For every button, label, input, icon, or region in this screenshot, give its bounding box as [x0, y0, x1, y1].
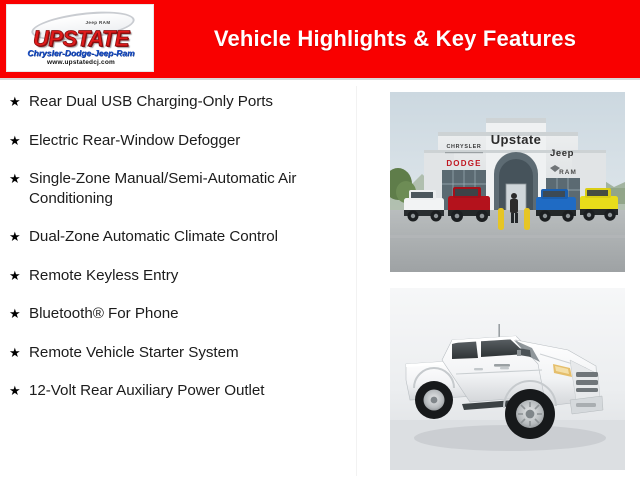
feature-label: Single-Zone Manual/Semi-Automatic Air Co… [29, 169, 352, 208]
dealership-exterior-photo[interactable]: Upstate CHRYSLER DODGE Jeep RAM [390, 92, 625, 272]
svg-text:Upstate: Upstate [491, 132, 541, 147]
list-item: ★ Remote Keyless Entry [6, 266, 352, 286]
svg-text:CHRYSLER: CHRYSLER [446, 144, 481, 150]
list-item: ★ Remote Vehicle Starter System [6, 343, 352, 363]
dealership-photo-artwork: Upstate CHRYSLER DODGE Jeep RAM [390, 92, 625, 272]
header-bar: Jeep RAM UPSTATE Chrysler-Dodge-Jeep-Ram… [0, 0, 640, 78]
star-bullet-icon: ★ [6, 131, 29, 150]
list-item: ★ Rear Dual USB Charging-Only Ports [6, 92, 352, 112]
star-bullet-icon: ★ [6, 92, 29, 111]
feature-label: Rear Dual USB Charging-Only Ports [29, 92, 352, 112]
feature-label: Bluetooth® For Phone [29, 304, 352, 324]
logo-subtitle: Chrysler-Dodge-Jeep-Ram [7, 49, 154, 58]
logo-brand-line: Jeep RAM [63, 20, 133, 25]
dealer-logo[interactable]: Jeep RAM UPSTATE Chrysler-Dodge-Jeep-Ram… [6, 4, 154, 72]
star-bullet-icon: ★ [6, 266, 29, 285]
star-bullet-icon: ★ [6, 169, 29, 188]
feature-label: 12-Volt Rear Auxiliary Power Outlet [29, 381, 352, 401]
dealer-logo-artwork: Jeep RAM UPSTATE Chrysler-Dodge-Jeep-Ram… [7, 5, 153, 71]
feature-label: Dual-Zone Automatic Climate Control [29, 227, 352, 247]
feature-label: Remote Vehicle Starter System [29, 343, 352, 363]
logo-website-url: www.upstatedcj.com [7, 60, 154, 67]
feature-label: Remote Keyless Entry [29, 266, 352, 286]
svg-text:DODGE: DODGE [446, 159, 481, 168]
svg-text:Jeep: Jeep [550, 148, 574, 159]
feature-label: Electric Rear-Window Defogger [29, 131, 352, 151]
feature-list: ★ Rear Dual USB Charging-Only Ports ★ El… [0, 82, 356, 480]
logo-wordmark: UPSTATE [7, 28, 154, 50]
list-item: ★ Dual-Zone Automatic Climate Control [6, 227, 352, 247]
list-item: ★ Bluetooth® For Phone [6, 304, 352, 324]
list-item: ★ Electric Rear-Window Defogger [6, 131, 352, 151]
star-bullet-icon: ★ [6, 381, 29, 400]
star-bullet-icon: ★ [6, 304, 29, 323]
list-item: ★ Single-Zone Manual/Semi-Automatic Air … [6, 169, 352, 208]
column-divider [356, 86, 357, 476]
header-divider [0, 78, 640, 80]
truck-photo-artwork [390, 288, 625, 470]
white-pickup-truck-photo[interactable] [390, 288, 625, 470]
list-item: ★ 12-Volt Rear Auxiliary Power Outlet [6, 381, 352, 401]
star-bullet-icon: ★ [6, 227, 29, 246]
page-title: Vehicle Highlights & Key Features [160, 0, 630, 78]
star-bullet-icon: ★ [6, 343, 29, 362]
svg-text:RAM: RAM [559, 169, 577, 176]
